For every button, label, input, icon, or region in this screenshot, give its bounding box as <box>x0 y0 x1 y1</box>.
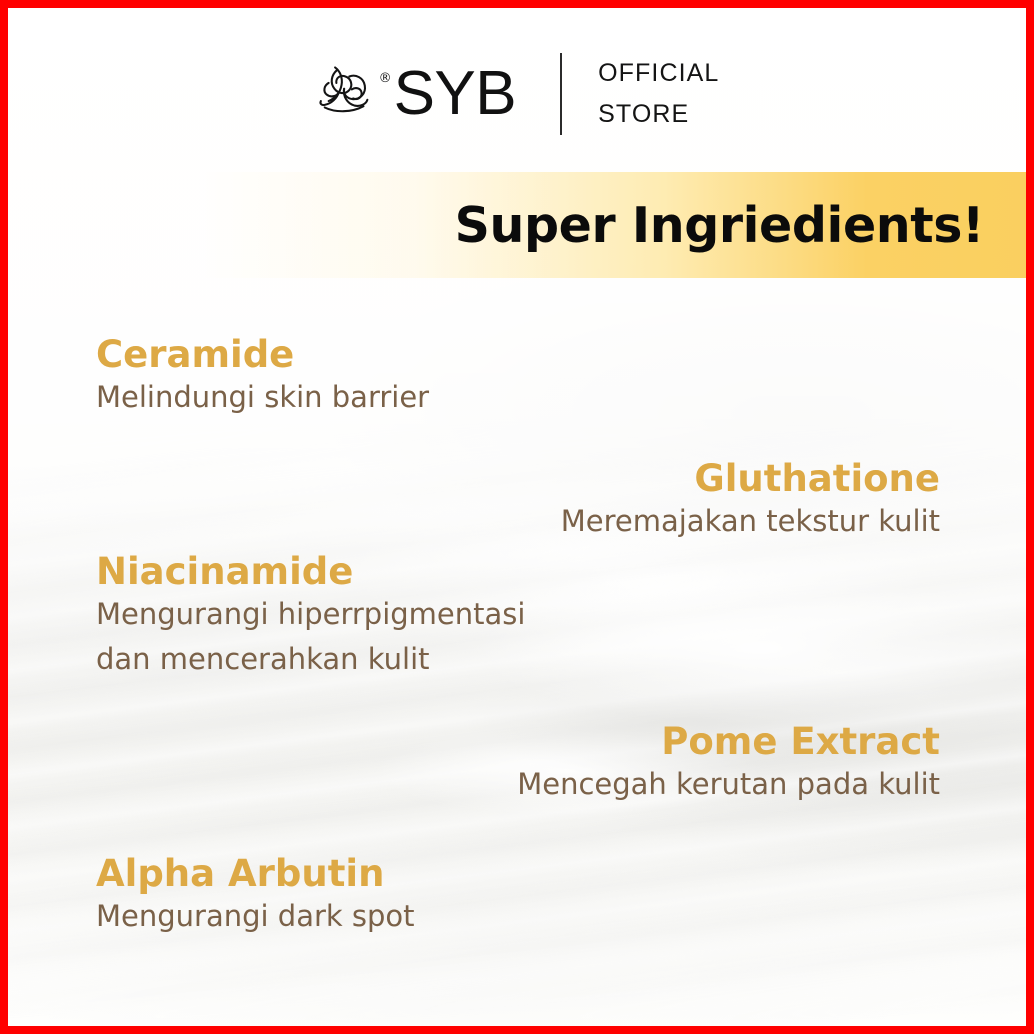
official-store-label: OFFICIAL STORE <box>598 53 719 136</box>
ingredient-name: Pome Extract <box>517 721 940 762</box>
ingredient-name: Ceramide <box>96 334 429 375</box>
brand-lockup: ® SYB <box>315 63 517 125</box>
ingredient-description: Melindungi skin barrier <box>96 375 429 419</box>
registered-trademark-symbol: ® <box>379 71 392 86</box>
header-divider <box>560 53 562 135</box>
ingredient-description: Meremajakan tekstur kulit <box>561 499 940 543</box>
ingredient-alpha-arbutin: Alpha Arbutin Mengurangi dark spot <box>96 853 415 939</box>
ingredient-description: Mencegah kerutan pada kulit <box>517 762 940 806</box>
ingredient-description-line-1: Mengurangi hiperrpigmentasi <box>96 592 525 636</box>
promo-poster: ® SYB OFFICIAL STORE Super Ingriedients!… <box>0 0 1034 1034</box>
ingredient-name: Niacinamide <box>96 551 525 592</box>
official-store-line-2: STORE <box>598 94 719 135</box>
ingredient-pome-extract: Pome Extract Mencegah kerutan pada kulit <box>517 721 940 807</box>
official-store-line-1: OFFICIAL <box>598 53 719 94</box>
headline-title: Super Ingriedients! <box>455 197 984 254</box>
brand-header: ® SYB OFFICIAL STORE <box>8 42 1026 146</box>
ingredient-ceramide: Ceramide Melindungi skin barrier <box>96 334 429 420</box>
ingredient-gluthatione: Gluthatione Meremajakan tekstur kulit <box>561 458 940 544</box>
ingredient-niacinamide: Niacinamide Mengurangi hiperrpigmentasi … <box>96 551 525 681</box>
brand-name: SYB <box>394 63 517 125</box>
ingredient-description: Mengurangi dark spot <box>96 894 415 938</box>
ingredient-name: Alpha Arbutin <box>96 853 415 894</box>
ingredient-name: Gluthatione <box>561 458 940 499</box>
syb-butterfly-monogram-icon <box>315 61 381 123</box>
ingredient-description-line-2: dan mencerahkan kulit <box>96 637 525 681</box>
headline-banner: Super Ingriedients! <box>198 172 1034 278</box>
